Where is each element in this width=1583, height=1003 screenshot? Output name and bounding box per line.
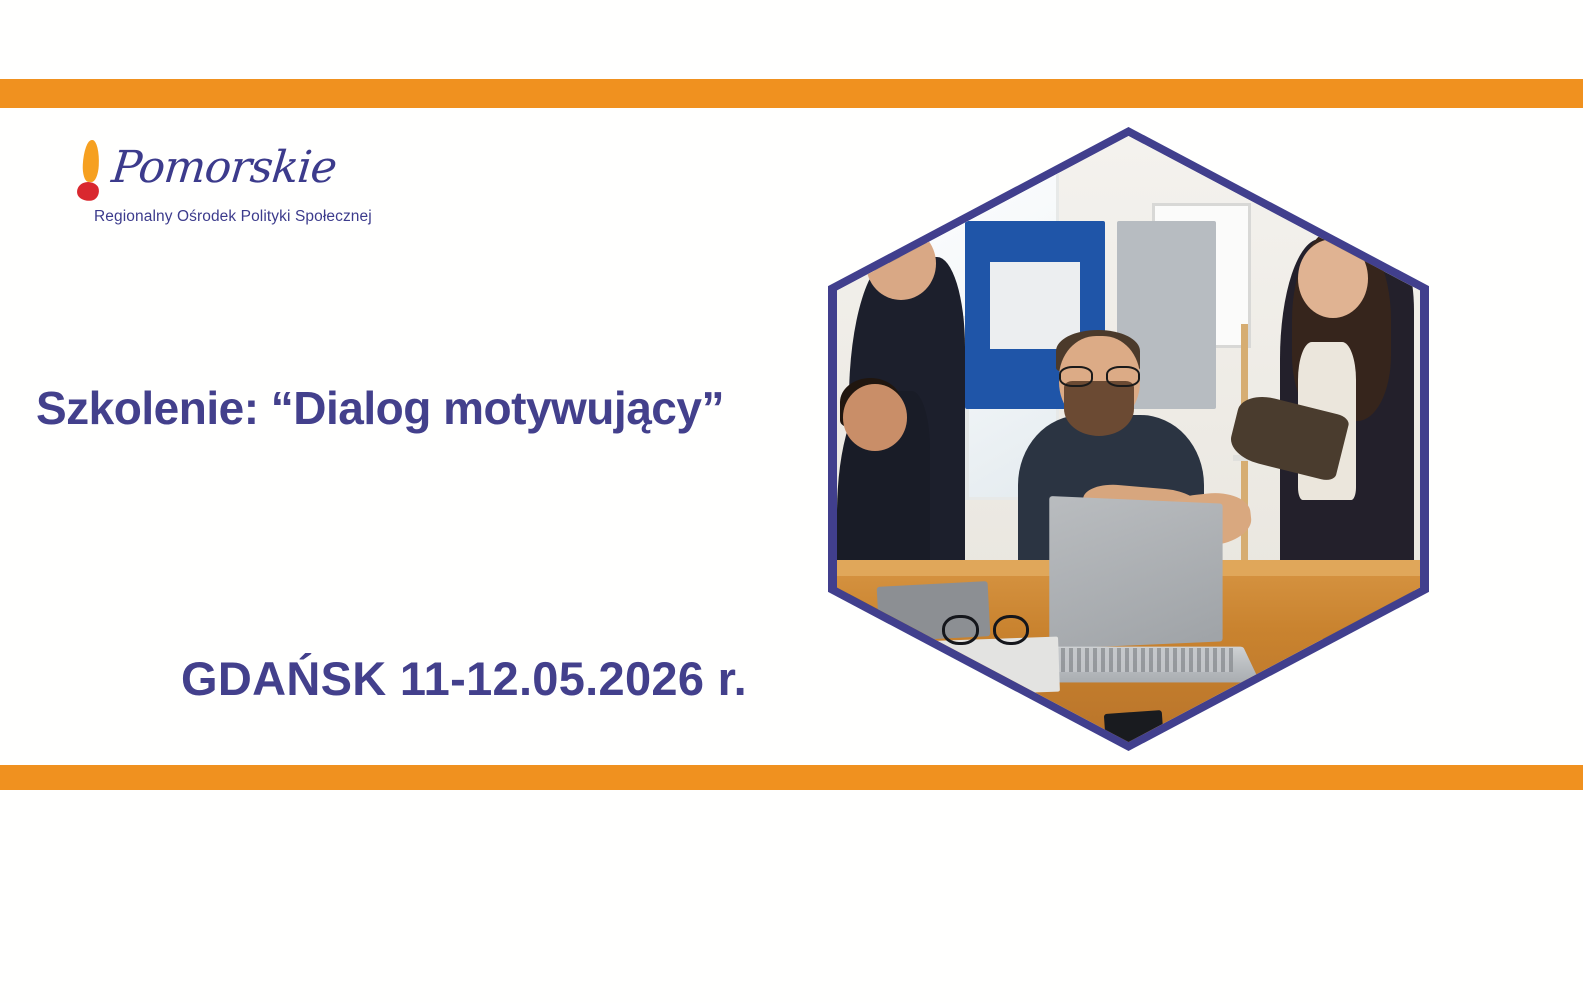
glasses-lens-right <box>1106 366 1140 387</box>
top-orange-rule <box>0 79 1583 108</box>
page-title: Szkolenie: “Dialog motywujący” <box>36 381 724 435</box>
glasses-lens-left <box>1059 366 1093 387</box>
photo-person-center-glasses-icon <box>1059 366 1141 387</box>
photo-person-foreground-head <box>843 384 907 451</box>
photo-laptop-keyboard <box>1053 648 1234 672</box>
photo-pencil <box>1291 666 1350 682</box>
photo-laptop-screen <box>1049 496 1222 650</box>
logo-wordmark: Pomorskie <box>109 142 338 193</box>
hexagon-photo <box>828 127 1429 751</box>
office-handshake-photo <box>837 136 1420 742</box>
footer-logo-strip: Fundusze Europejskie dla Rozwoju Społecz… <box>0 790 1583 910</box>
exclamation-dot <box>76 181 100 203</box>
eyeglasses-lens-right <box>993 615 1030 645</box>
pomorskie-rops-logo: Pomorskie Regionalny Ośrodek Polityki Sp… <box>72 138 372 234</box>
photo-person-center-beard <box>1064 381 1134 436</box>
hexagon-photo-clip <box>837 136 1420 742</box>
exclamation-stroke <box>82 140 100 183</box>
bottom-orange-rule <box>0 765 1583 790</box>
event-location-date: GDAŃSK 11-12.05.2026 r. <box>181 651 747 706</box>
exclamation-mark-icon <box>77 140 103 200</box>
logo-subtitle: Regionalny Ośrodek Polityki Społecznej <box>94 208 372 226</box>
eyeglasses-lens-left <box>942 615 979 645</box>
photo-eyeglasses-icon <box>942 615 1029 645</box>
poster-canvas: Pomorskie Regionalny Ośrodek Polityki Sp… <box>0 0 1583 1003</box>
logo-mark: Pomorskie <box>72 138 372 204</box>
